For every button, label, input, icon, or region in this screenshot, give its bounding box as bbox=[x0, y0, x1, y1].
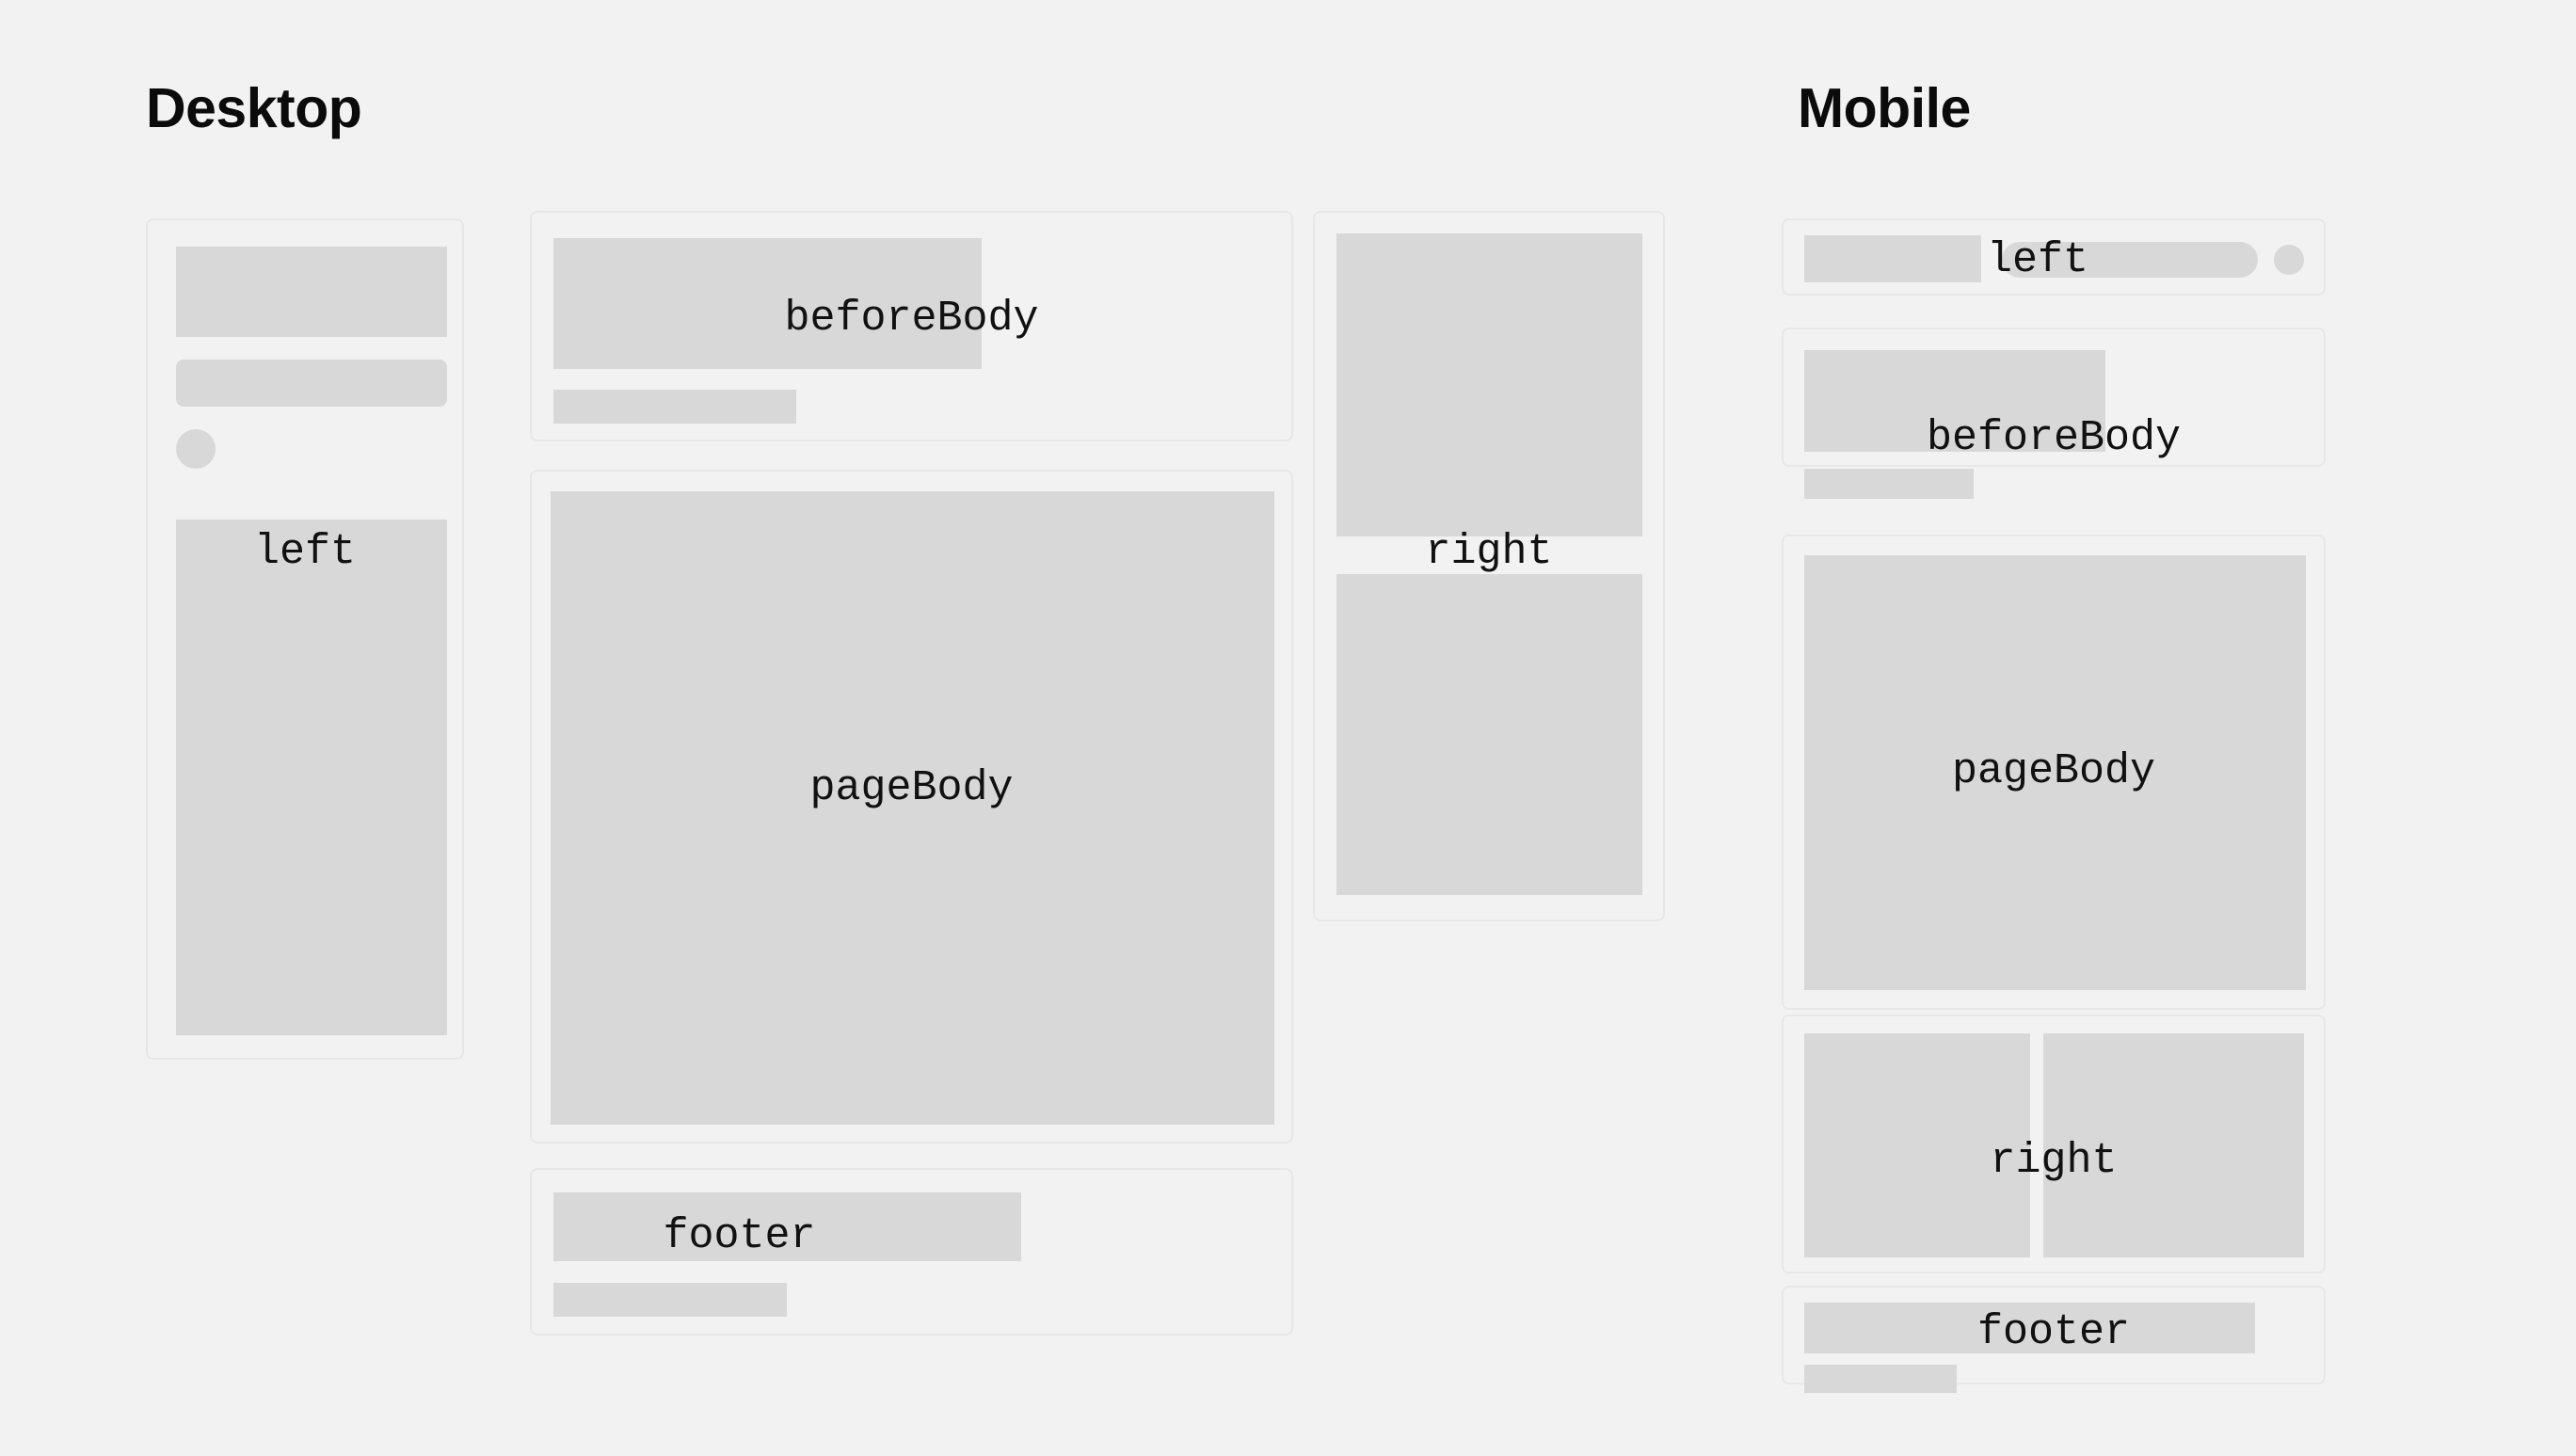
mobile-beforebody-region-card[interactable] bbox=[1782, 328, 2326, 467]
desktop-pagebody-region-card[interactable] bbox=[530, 470, 1293, 1144]
skeleton-block-hero bbox=[1804, 350, 2105, 452]
desktop-section-title: Desktop bbox=[146, 81, 361, 136]
mobile-footer-region-card[interactable] bbox=[1782, 1286, 2326, 1384]
skeleton-block-footer-bar bbox=[553, 1192, 1021, 1261]
desktop-right-region-card[interactable] bbox=[1313, 211, 1665, 921]
skeleton-block-hero bbox=[553, 238, 982, 369]
skeleton-block-footer-bar bbox=[1804, 1303, 2255, 1353]
desktop-left-region-card[interactable] bbox=[146, 218, 464, 1060]
skeleton-block-logo bbox=[1804, 235, 1981, 282]
skeleton-block-pill bbox=[176, 360, 447, 407]
skeleton-block-bar bbox=[553, 390, 796, 424]
skeleton-block-avatar-circle bbox=[2274, 245, 2304, 275]
skeleton-block-footer-subbar bbox=[553, 1283, 787, 1317]
skeleton-block-avatar-circle bbox=[176, 429, 216, 469]
skeleton-block-right-right bbox=[2043, 1033, 2304, 1257]
desktop-beforebody-region-card[interactable] bbox=[530, 211, 1293, 441]
skeleton-block-right-top bbox=[1336, 233, 1642, 536]
skeleton-block-footer-subbar bbox=[1804, 1365, 1957, 1393]
desktop-footer-region-card[interactable] bbox=[530, 1168, 1293, 1336]
skeleton-block-pill bbox=[2002, 242, 2258, 278]
mobile-left-region-card[interactable] bbox=[1782, 218, 2326, 296]
skeleton-block-right-left bbox=[1804, 1033, 2030, 1257]
skeleton-block-panel bbox=[176, 520, 447, 1035]
skeleton-block-bar bbox=[1804, 469, 1974, 499]
mobile-right-region-card[interactable] bbox=[1782, 1015, 2326, 1273]
skeleton-block-header bbox=[176, 247, 447, 337]
mobile-pagebody-region-card[interactable] bbox=[1782, 535, 2326, 1010]
skeleton-block-body bbox=[551, 491, 1274, 1125]
skeleton-block-body bbox=[1804, 555, 2306, 990]
skeleton-block-right-bottom bbox=[1336, 574, 1642, 895]
mobile-section-title: Mobile bbox=[1798, 81, 1971, 136]
